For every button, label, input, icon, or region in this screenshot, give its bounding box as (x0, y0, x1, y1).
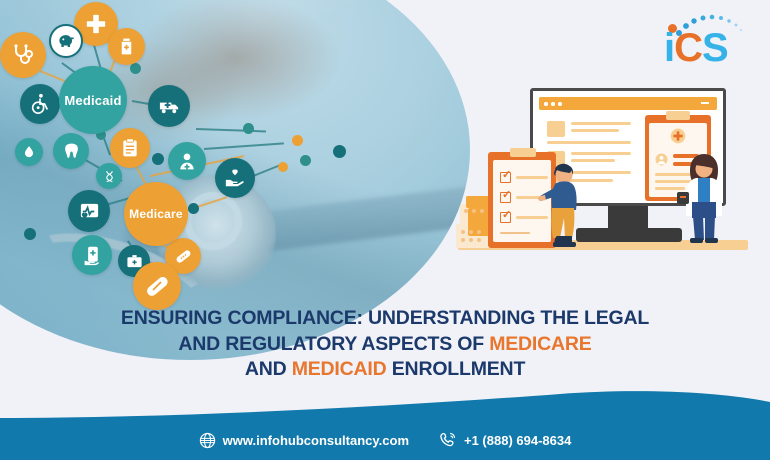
clipboard-clamp (666, 111, 690, 120)
connector-node-dot (333, 145, 346, 158)
hub-medicare: Medicare (124, 182, 188, 246)
ics-logo[interactable]: iCS (664, 8, 756, 72)
signature-line (500, 232, 530, 234)
pill-dot (480, 209, 484, 213)
titlebar-dot (544, 102, 548, 106)
node-blood-drop (15, 138, 43, 166)
blood-drop-icon (22, 145, 36, 159)
form-thumb (547, 121, 565, 137)
node-mobile-health (72, 235, 112, 275)
titlebar-dot (558, 102, 562, 106)
form-line (571, 122, 631, 125)
phone-call-icon (439, 431, 457, 449)
pill-dot (477, 238, 481, 242)
pill-dot (461, 238, 465, 242)
heart-monitor-icon (78, 200, 101, 223)
mobile-health-icon (82, 245, 103, 266)
titlebar-dot (551, 102, 555, 106)
node-piggy-bank (49, 24, 83, 58)
phone-text: +1 (888) 694-8634 (464, 433, 571, 448)
logo-wordmark: iCS (664, 28, 728, 68)
logo-letter-i: i (664, 26, 674, 70)
man-pointing-at-checklist (536, 156, 592, 252)
connector-node-dot (188, 203, 199, 214)
piggy-bank-icon (57, 32, 76, 51)
footer-wave-shape (0, 388, 770, 460)
connector-node-dot (243, 123, 254, 134)
tooth-icon (62, 142, 81, 161)
connector-node-dot (24, 228, 36, 240)
logo-letter-s: S (702, 26, 728, 70)
node-clipboard-report (110, 128, 150, 168)
pill-dot (477, 230, 481, 234)
check-icon: ✓ (502, 210, 511, 221)
node-wheelchair (20, 84, 60, 124)
node-doctor (168, 142, 206, 180)
browser-titlebar (539, 97, 717, 110)
logo-letter-c: C (674, 26, 702, 70)
title-line-2-prefix: AND REGULATORY ASPECTS OF (178, 333, 489, 355)
node-dna (96, 163, 122, 189)
node-ambulance (148, 85, 190, 127)
medical-cross-icon (670, 128, 686, 144)
connector-node-dot (300, 155, 311, 166)
pill-dot (469, 238, 473, 242)
title-line-1: ENSURING COMPLIANCE: UNDERSTANDING THE L… (46, 306, 724, 332)
titlebar-control (701, 102, 709, 104)
check-icon: ✓ (502, 190, 511, 201)
connector-node-dot (130, 63, 141, 74)
patient-avatar-icon (655, 153, 668, 166)
wheelchair-icon (29, 93, 51, 115)
clipboard-report-icon (120, 138, 140, 158)
female-doctor-with-tablet (676, 150, 732, 250)
hub-medicare-label: Medicare (129, 207, 183, 221)
medicine-bottle-icon (117, 37, 136, 56)
bandage-icon (174, 247, 193, 266)
node-tooth (53, 133, 89, 169)
node-heart-monitor (68, 190, 110, 232)
node-stethoscope (0, 32, 46, 78)
clipboard-clamp (510, 148, 536, 157)
connector-node-dot (292, 135, 303, 146)
connector-node-dot (278, 162, 288, 172)
pill-dot (472, 209, 476, 213)
form-line (547, 141, 631, 144)
node-medicine-bottle (108, 28, 145, 65)
medical-cross-icon (85, 13, 107, 35)
title-line-3-prefix: AND (245, 358, 292, 380)
title-highlight-medicaid: MEDICAID (292, 358, 387, 380)
ambulance-icon (158, 95, 181, 118)
website-contact[interactable]: www.infohubconsultancy.com (199, 432, 409, 449)
title-line-2: AND REGULATORY ASPECTS OF MEDICARE (46, 332, 724, 358)
hand-heart-icon (224, 167, 246, 189)
node-capsule-pill (133, 262, 181, 310)
title-line-3: AND MEDICAID ENROLLMENT (46, 357, 724, 383)
capsule-pill-icon (144, 273, 170, 299)
title-line-3-suffix: ENROLLMENT (387, 358, 526, 380)
stethoscope-icon (11, 43, 35, 67)
node-hand-heart (215, 158, 255, 198)
footer-contact-bar: www.infohubconsultancy.com +1 (888) 694-… (0, 431, 770, 449)
page-title: ENSURING COMPLIANCE: UNDERSTANDING THE L… (0, 306, 770, 383)
phone-contact[interactable]: +1 (888) 694-8634 (439, 431, 571, 449)
form-line (571, 129, 619, 132)
form-line (571, 152, 631, 155)
check-icon: ✓ (502, 170, 511, 181)
title-highlight-medicare: MEDICARE (489, 333, 591, 355)
hub-medicaid: Medicaid (59, 66, 127, 134)
globe-icon (199, 432, 216, 449)
dna-icon (103, 170, 116, 183)
pill-dot (469, 230, 473, 234)
hub-medicaid-label: Medicaid (64, 93, 121, 108)
pill-dot (464, 209, 468, 213)
pill-dot (461, 230, 465, 234)
connector-node-dot (152, 153, 164, 165)
website-text: www.infohubconsultancy.com (223, 433, 409, 448)
medicare-enrollment-illustration: ✓ ✓ ✓ (452, 78, 752, 278)
first-aid-kit-icon (126, 253, 143, 270)
doctor-icon (177, 151, 197, 171)
